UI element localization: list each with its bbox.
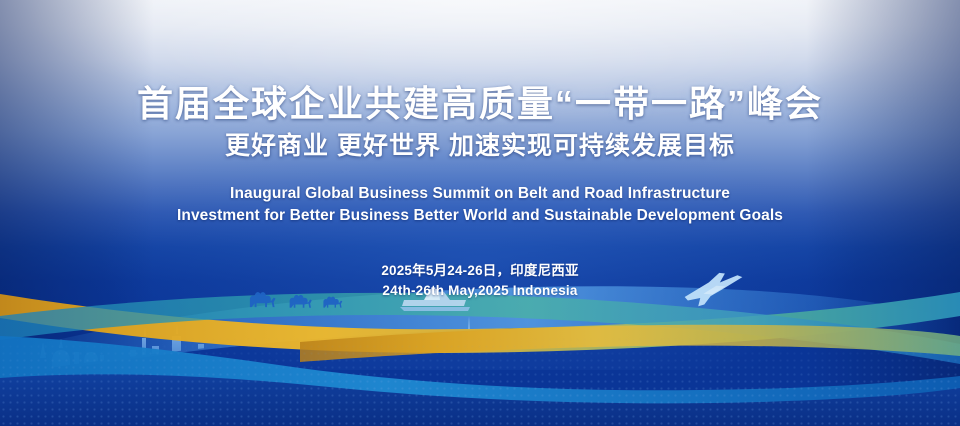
- banner-title-english-line1: Inaugural Global Business Summit on Belt…: [0, 159, 960, 205]
- banner-date-english: 24th-26th May,2025 Indonesia: [0, 281, 960, 301]
- banner-title-english-line2: Investment for Better Business Better Wo…: [0, 205, 960, 227]
- banner-text-block: 首届全球企业共建高质量“一带一路”峰会 更好商业 更好世界 加速实现可持续发展目…: [0, 0, 960, 300]
- banner-date-chinese: 2025年5月24-26日，印度尼西亚: [0, 227, 960, 281]
- banner-subtitle-chinese: 更好商业 更好世界 加速实现可持续发展目标: [0, 122, 960, 159]
- banner-title-chinese: 首届全球企业共建高质量“一带一路”峰会: [0, 0, 960, 122]
- foreground-wave: [0, 374, 960, 426]
- summit-banner: 首届全球企业共建高质量“一带一路”峰会 更好商业 更好世界 加速实现可持续发展目…: [0, 0, 960, 426]
